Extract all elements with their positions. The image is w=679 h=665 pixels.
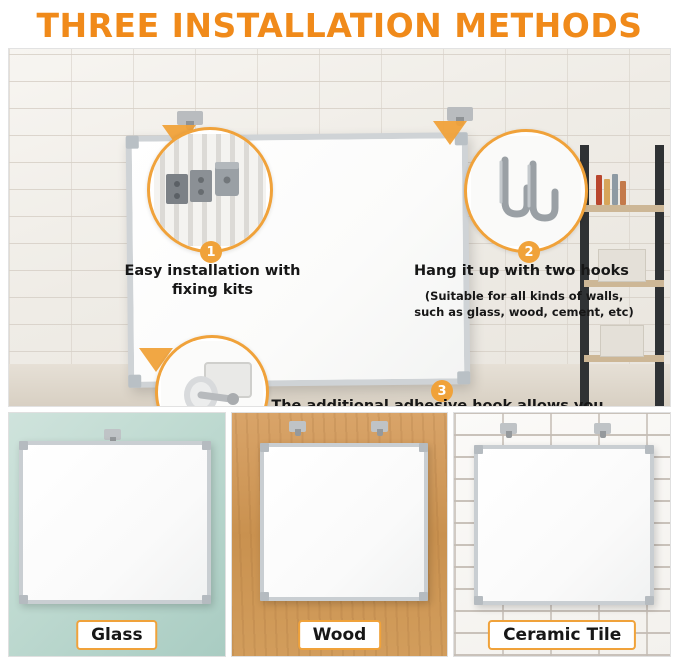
- book-icon: [612, 174, 618, 205]
- surface-panel-ceramic-tile: Ceramic Tile: [453, 412, 671, 657]
- book-icon: [620, 181, 626, 205]
- mini-corner-bl: [260, 592, 269, 601]
- mini-whiteboard-surface: [264, 447, 424, 597]
- mini-corner-bl: [19, 595, 28, 604]
- shelf-frame-right: [655, 145, 664, 406]
- book-icon: [596, 175, 602, 205]
- surface-label-glass: Glass: [76, 620, 158, 650]
- two-hooks-icon: [467, 132, 585, 250]
- mini-whiteboard-surface: [478, 449, 650, 601]
- shelf-storage-box: [600, 325, 644, 357]
- fixing-kit-brackets-icon: [150, 130, 270, 250]
- book-icon: [604, 179, 610, 205]
- wall-hook-left: [177, 111, 203, 125]
- mini-hook: [500, 423, 517, 434]
- callout-subcaption-2: (Suitable for all kinds of walls, such a…: [409, 289, 639, 320]
- mini-whiteboard-surface: [23, 445, 207, 600]
- surface-label-ceramic-tile: Ceramic Tile: [488, 620, 636, 650]
- callout-two-hooks: [464, 129, 588, 253]
- mini-whiteboard-glass: [19, 441, 211, 604]
- mini-hook: [594, 423, 611, 434]
- surface-label-wood: Wood: [298, 620, 382, 650]
- surface-panel-wood: Wood: [231, 412, 449, 657]
- mini-whiteboard-wood: [260, 443, 428, 601]
- mini-corner-br: [419, 592, 428, 601]
- page-title: THREE INSTALLATION METHODS: [37, 6, 643, 45]
- page-title-bar: THREE INSTALLATION METHODS: [0, 0, 679, 48]
- mini-corner-tr: [202, 441, 211, 450]
- shelf-board-1: [584, 205, 664, 212]
- board-corner-bottom-left: [128, 375, 141, 388]
- callout-caption-1: Easy installation with fixing kits: [105, 262, 320, 300]
- callout-caption-2: Hang it up with two hooks: [399, 262, 644, 281]
- shelf-books: [596, 173, 626, 205]
- callout-fixing-kits: [147, 127, 273, 253]
- step-badge-2: 2: [518, 241, 540, 263]
- board-corner-top-left: [126, 136, 139, 149]
- mini-corner-tr: [645, 445, 654, 454]
- step-badge-1: 1: [200, 241, 222, 263]
- mini-corner-br: [202, 595, 211, 604]
- mini-corner-tl: [260, 443, 269, 452]
- hero-scene: 1 Easy installation with fixing kits 2 H…: [8, 48, 671, 407]
- mini-hook: [104, 429, 121, 440]
- wall-hook-right: [447, 107, 473, 121]
- mini-hook: [289, 421, 306, 432]
- mini-corner-tl: [474, 445, 483, 454]
- callout-adhesive-hook: [155, 335, 269, 407]
- surface-panel-glass: Glass: [8, 412, 226, 657]
- surface-panels: Glass Wood Ceramic Tile: [8, 412, 671, 657]
- mini-corner-tr: [419, 443, 428, 452]
- adhesive-hook-icon: [158, 338, 266, 407]
- mount-highlight-top-right: [433, 121, 467, 145]
- callout-caption-3: The additional adhesive hook allows you …: [265, 397, 610, 407]
- mini-corner-tl: [19, 441, 28, 450]
- mini-corner-bl: [474, 596, 483, 605]
- mini-hook: [371, 421, 388, 432]
- board-corner-bottom-right: [457, 371, 470, 384]
- mini-whiteboard-tile: [474, 445, 654, 605]
- mini-corner-br: [645, 596, 654, 605]
